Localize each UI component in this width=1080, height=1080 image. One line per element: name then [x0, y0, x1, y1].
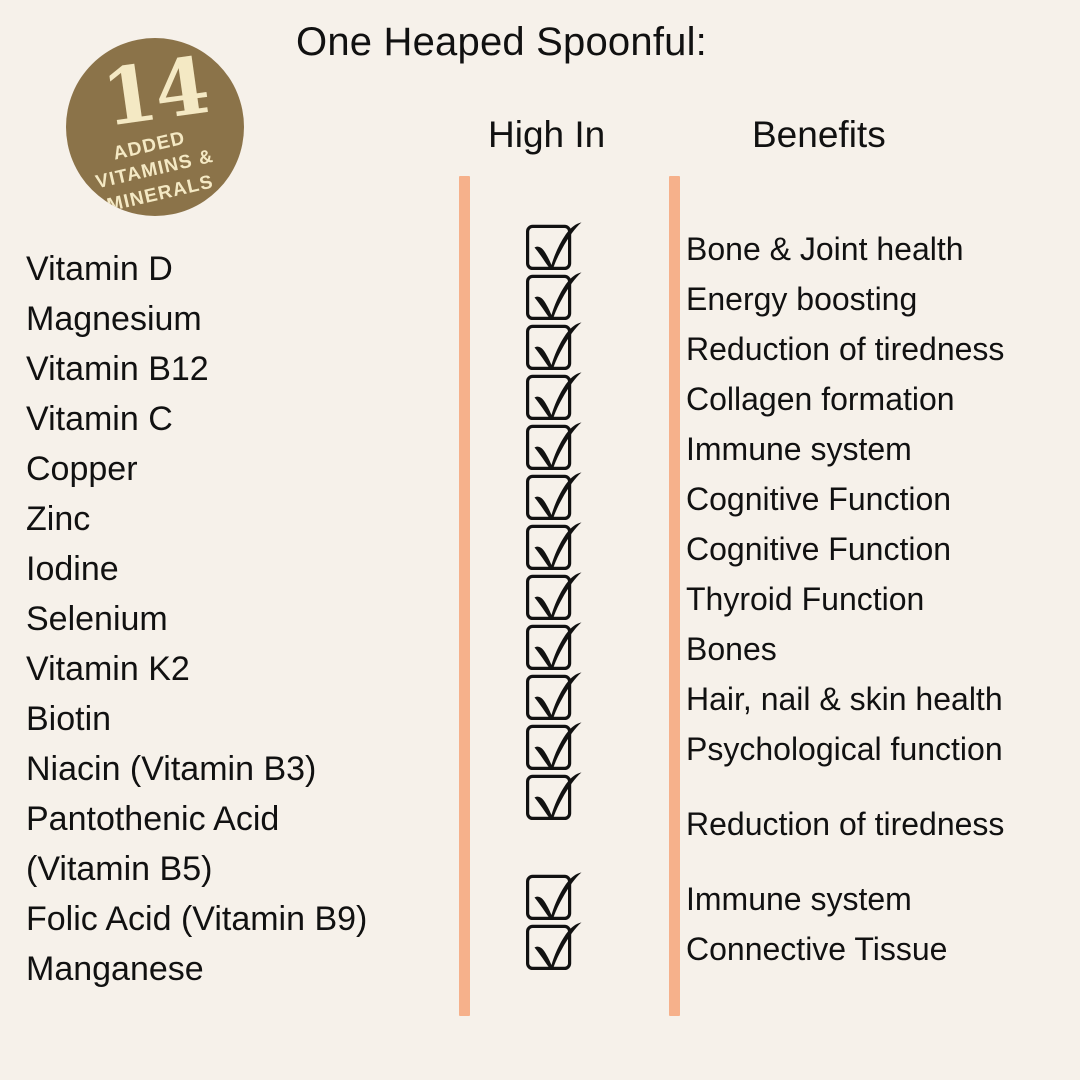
nutrient-list: Vitamin DMagnesiumVitamin B12Vitamin CCo…	[26, 244, 446, 994]
checkmark-icon[interactable]	[526, 522, 586, 570]
checkmark-icon[interactable]	[526, 422, 586, 470]
column-header-benefits: Benefits	[752, 114, 886, 156]
checkmark-icon[interactable]	[526, 372, 586, 420]
nutrient-item: Zinc	[26, 494, 446, 544]
checkmark-icon[interactable]	[526, 722, 586, 770]
benefits-column: Bone & Joint healthEnergy boostingReduct…	[686, 224, 1080, 974]
checkbox-row[interactable]	[526, 222, 616, 272]
nutrient-item: Vitamin D	[26, 244, 446, 294]
benefit-item: Collagen formation	[686, 374, 1080, 424]
benefit-item: Connective Tissue	[686, 924, 1080, 974]
divider-bar-right	[669, 176, 680, 1016]
checkmark-icon[interactable]	[526, 572, 586, 620]
benefit-item: Immune system	[686, 424, 1080, 474]
benefit-item: Hair, nail & skin health	[686, 674, 1080, 724]
checkbox-row[interactable]	[526, 772, 616, 872]
page-title: One Heaped Spoonful:	[296, 20, 707, 65]
benefit-item: Energy boosting	[686, 274, 1080, 324]
checkmark-icon[interactable]	[526, 472, 586, 520]
checkbox-row[interactable]	[526, 372, 616, 422]
benefit-item: Reduction of tiredness	[686, 324, 1080, 374]
checkmark-icon[interactable]	[526, 672, 586, 720]
nutrient-item: Manganese	[26, 944, 446, 994]
benefit-item: Immune system	[686, 874, 1080, 924]
checkbox-row[interactable]	[526, 622, 616, 672]
checkbox-row[interactable]	[526, 922, 616, 972]
nutrient-item: Folic Acid (Vitamin B9)	[26, 894, 446, 944]
checkmark-icon[interactable]	[526, 772, 586, 820]
checkbox-row[interactable]	[526, 722, 616, 772]
nutrient-item: Selenium	[26, 594, 446, 644]
checkmark-icon[interactable]	[526, 872, 586, 920]
checkbox-row[interactable]	[526, 322, 616, 372]
nutrient-item: Vitamin K2	[26, 644, 446, 694]
nutrient-item: Magnesium	[26, 294, 446, 344]
nutrient-item: Biotin	[26, 694, 446, 744]
nutrient-item: Vitamin B12	[26, 344, 446, 394]
checkbox-row[interactable]	[526, 422, 616, 472]
checkbox-row[interactable]	[526, 672, 616, 722]
divider-bar-left	[459, 176, 470, 1016]
checkbox-row[interactable]	[526, 572, 616, 622]
benefit-item: Reduction of tiredness	[686, 774, 1080, 874]
benefit-item: Thyroid Function	[686, 574, 1080, 624]
checkmark-icon[interactable]	[526, 622, 586, 670]
checkbox-row[interactable]	[526, 272, 616, 322]
checkmark-icon[interactable]	[526, 222, 586, 270]
nutrient-item: Pantothenic Acid (Vitamin B5)	[26, 794, 446, 894]
benefit-item: Bones	[686, 624, 1080, 674]
nutrient-item: Vitamin C	[26, 394, 446, 444]
benefit-item: Cognitive Function	[686, 524, 1080, 574]
checkmark-icon[interactable]	[526, 322, 586, 370]
checkbox-row[interactable]	[526, 472, 616, 522]
nutrient-item: Copper	[26, 444, 446, 494]
benefit-item: Psychological function	[686, 724, 1080, 774]
nutrient-item: Niacin (Vitamin B3)	[26, 744, 446, 794]
nutrient-item: Iodine	[26, 544, 446, 594]
benefit-item: Bone & Joint health	[686, 224, 1080, 274]
checkbox-column	[526, 222, 616, 972]
column-header-high-in: High In	[488, 114, 605, 156]
checkmark-icon[interactable]	[526, 272, 586, 320]
checkmark-icon[interactable]	[526, 922, 586, 970]
checkbox-row[interactable]	[526, 522, 616, 572]
checkbox-row[interactable]	[526, 872, 616, 922]
added-vitamins-badge: 14 ADDED VITAMINS & MINERALS	[66, 38, 244, 216]
benefit-item: Cognitive Function	[686, 474, 1080, 524]
